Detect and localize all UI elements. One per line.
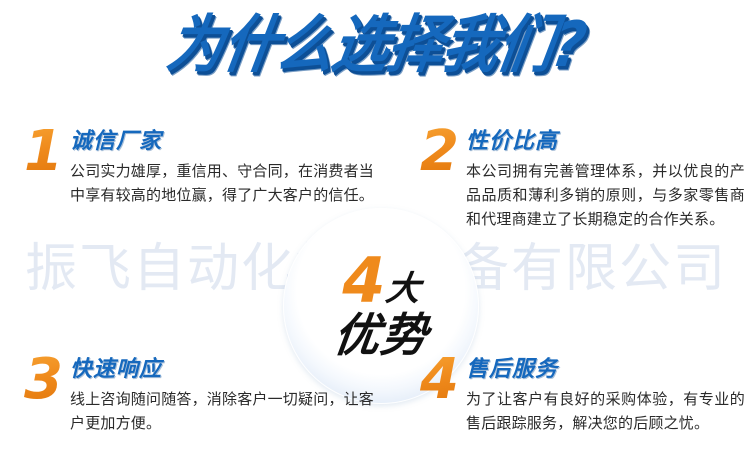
badge-number: 4 bbox=[342, 252, 383, 309]
feature-number-2: 2 bbox=[420, 126, 466, 178]
feature-text-2: 性价比高 本公司拥有完善管理体系，并以优良的产品品质和薄利多销的原则，与多家零售… bbox=[466, 130, 745, 231]
feature-text-3: 快速响应 线上咨询随问随答，消除客户一切疑问，让客户更加方便。 bbox=[70, 358, 374, 436]
feature-text-1: 诚信厂家 公司实力雄厚，重信用、守合同，在消费者当中享有较高的地位赢，得了广大客… bbox=[70, 130, 374, 208]
promo-banner: 振飞自动化机械设备有限公司 为什么选择我们? 4 大 优势 1 诚信厂家 公司实… bbox=[0, 0, 752, 475]
feature-item-1: 1 诚信厂家 公司实力雄厚，重信用、守合同，在消费者当中享有较高的地位赢，得了广… bbox=[24, 130, 374, 208]
feature-text-4: 售后服务 为了让客户有良好的采购体验，有专业的售后跟踪服务，解决您的后顾之忧。 bbox=[466, 358, 745, 435]
banner-title-container: 为什么选择我们? bbox=[0, 18, 752, 74]
feature-body-4: 为了让客户有良好的采购体验，有专业的售后跟踪服务，解决您的后顾之忧。 bbox=[466, 387, 745, 435]
feature-body-1: 公司实力雄厚，重信用、守合同，在消费者当中享有较高的地位赢，得了广大客户的信任。 bbox=[70, 159, 374, 208]
badge-content: 4 大 优势 bbox=[296, 253, 466, 359]
feature-heading-2: 性价比高 bbox=[466, 130, 745, 154]
feature-number-3: 3 bbox=[24, 354, 70, 406]
feature-item-3: 3 快速响应 线上咨询随问随答，消除客户一切疑问，让客户更加方便。 bbox=[24, 358, 374, 436]
feature-item-4: 4 售后服务 为了让客户有良好的采购体验，有专业的售后跟踪服务，解决您的后顾之忧… bbox=[420, 358, 745, 435]
badge-unit: 大 bbox=[383, 272, 421, 306]
feature-item-2: 2 性价比高 本公司拥有完善管理体系，并以优良的产品品质和薄利多销的原则，与多家… bbox=[420, 130, 745, 231]
feature-heading-1: 诚信厂家 bbox=[70, 130, 374, 154]
badge-top-row: 4 大 bbox=[296, 253, 466, 309]
feature-number-4: 4 bbox=[420, 354, 466, 406]
feature-number-1: 1 bbox=[24, 126, 70, 178]
feature-body-3: 线上咨询随问随答，消除客户一切疑问，让客户更加方便。 bbox=[70, 387, 374, 436]
feature-heading-3: 快速响应 bbox=[70, 358, 374, 382]
feature-body-2: 本公司拥有完善管理体系，并以优良的产品品质和薄利多销的原则，与多家零售商和代理商… bbox=[466, 159, 745, 231]
feature-heading-4: 售后服务 bbox=[466, 358, 745, 382]
page-title: 为什么选择我们? bbox=[163, 15, 589, 78]
